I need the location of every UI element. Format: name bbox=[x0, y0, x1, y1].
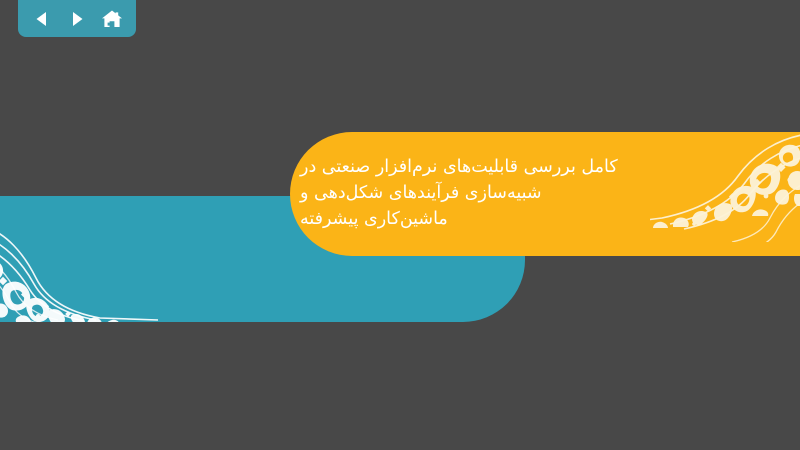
forward-button[interactable] bbox=[64, 6, 90, 32]
forward-arrow-icon bbox=[68, 10, 86, 28]
slide-canvas: کامل بررسی قابلیت‌های نرم‌افزار صنعتی در… bbox=[0, 0, 800, 450]
slide-title: کامل بررسی قابلیت‌های نرم‌افزار صنعتی در… bbox=[300, 131, 800, 257]
navigation-bar bbox=[18, 0, 136, 37]
home-icon bbox=[101, 9, 123, 29]
title-line-1: کامل بررسی قابلیت‌های نرم‌افزار صنعتی در bbox=[300, 155, 618, 181]
title-line-3: ماشین‌کاری پیشرفته bbox=[300, 207, 448, 233]
home-button[interactable] bbox=[99, 6, 125, 32]
back-button[interactable] bbox=[29, 6, 55, 32]
title-line-2: شبیه‌سازی فرآیندهای شکل‌دهی و bbox=[300, 181, 542, 207]
back-arrow-icon bbox=[33, 10, 51, 28]
arabesque-ornament-bottom-left bbox=[0, 196, 160, 322]
